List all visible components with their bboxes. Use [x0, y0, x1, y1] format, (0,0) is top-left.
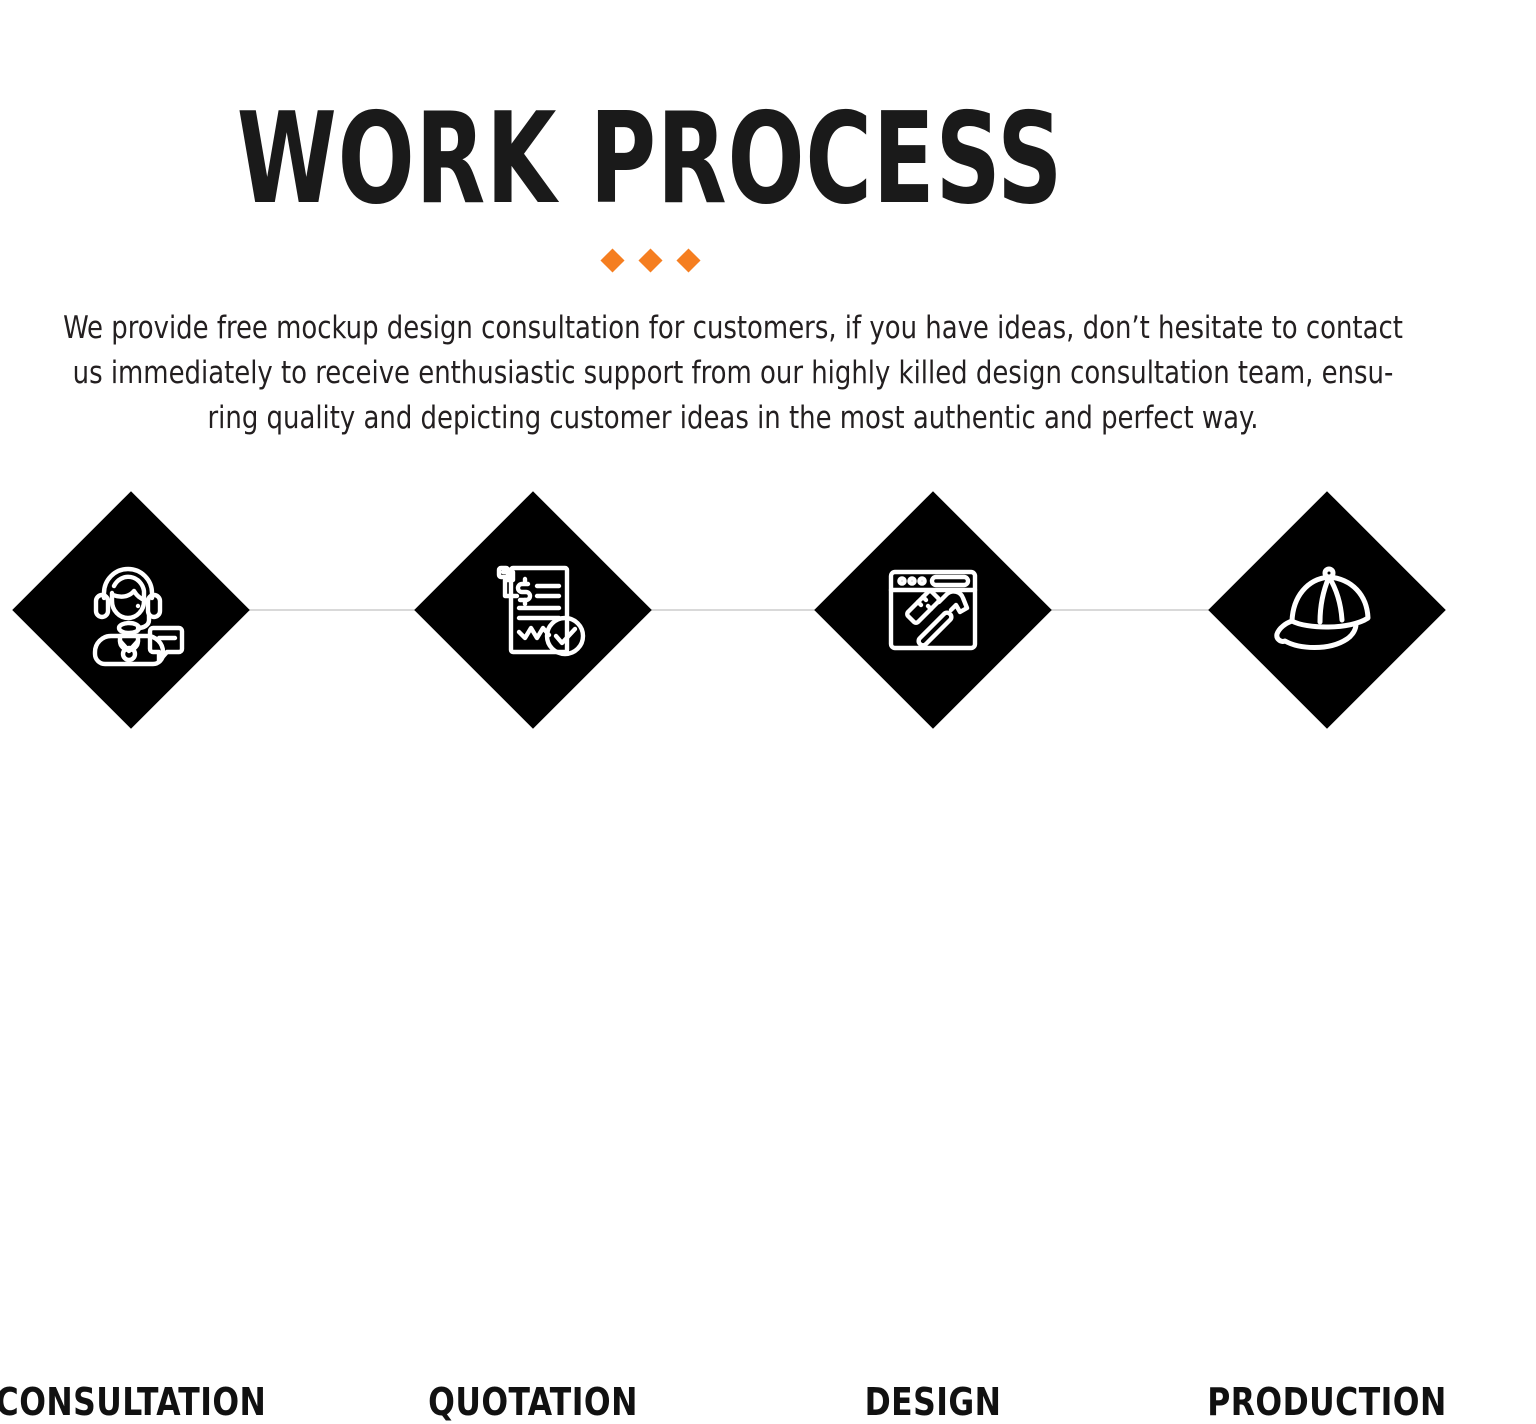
orange-diamond-icon — [600, 248, 624, 272]
intro-line-2: us immediately to receive enthusiastic s… — [59, 351, 1408, 396]
step-diamond-wrap — [814, 491, 1052, 729]
step-diamond-wrap — [12, 491, 250, 729]
browser-hammer-ruler-icon — [873, 550, 993, 670]
step-label-production: PRODUCTION — [1088, 1380, 1536, 1424]
intro-paragraph: We provide free mockup design consultati… — [59, 306, 1408, 441]
orange-diamond-icon — [638, 248, 662, 272]
page-title: WORK PROCESS — [130, 96, 1170, 222]
orange-diamond-icon — [676, 248, 700, 272]
invoice-document-check-icon — [473, 550, 593, 670]
baseball-cap-icon — [1267, 550, 1387, 670]
step-diamond-wrap — [414, 491, 652, 729]
intro-line-3: ring quality and depicting customer idea… — [59, 396, 1408, 441]
step-connector-line — [131, 609, 1327, 611]
divider-ornament — [0, 252, 1300, 269]
intro-line-1: We provide free mockup design consultati… — [59, 306, 1408, 351]
step-diamond-wrap — [1208, 491, 1446, 729]
headset-support-agent-icon — [71, 550, 191, 670]
work-process-section: WORK PROCESS We provide free mockup desi… — [0, 0, 1536, 1024]
